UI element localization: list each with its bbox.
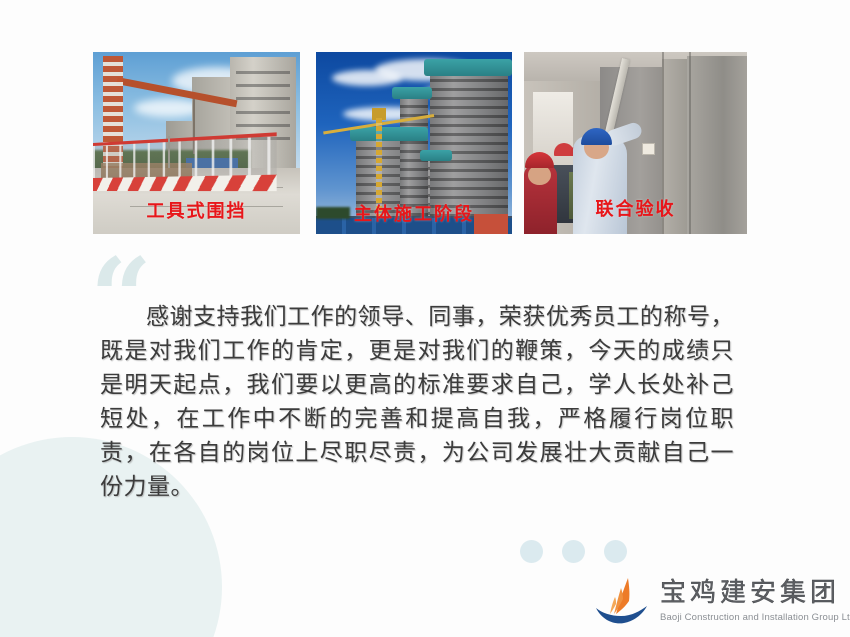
- photo-card-tool-fencing: 工具式围挡: [93, 52, 300, 234]
- logo-name-en: Baoji Construction and Installation Grou…: [660, 612, 850, 623]
- building-floor-line: [236, 84, 290, 87]
- company-logo: 宝鸡建安集团 Baoji Construction and Installati…: [592, 572, 844, 630]
- tower-building: [430, 70, 508, 217]
- logo-name-cn: 宝鸡建安集团: [660, 579, 850, 608]
- logo-text: 宝鸡建安集团 Baoji Construction and Installati…: [660, 579, 850, 622]
- photo-caption: 联合验收: [524, 195, 747, 221]
- photo-caption: 工具式围挡: [93, 197, 300, 223]
- scaffold-shroud: [420, 150, 452, 161]
- photo-card-main-structure: 主体施工阶段: [316, 52, 512, 234]
- building-floor-line: [236, 71, 290, 74]
- decorative-dot: [520, 540, 543, 563]
- photo-card-joint-acceptance: 联合验收: [524, 52, 747, 234]
- decorative-dot: [604, 540, 627, 563]
- light-pole: [168, 136, 170, 169]
- floor-lines: [430, 70, 508, 217]
- photo-strip: 工具式围挡: [93, 52, 747, 234]
- decorative-dots: [520, 540, 627, 563]
- scaffold-shroud: [350, 127, 428, 142]
- acknowledgement-paragraph: 感谢支持我们工作的领导、同事，荣获优秀员工的称号，既是对我们工作的肯定，更是对我…: [100, 300, 734, 504]
- building-floor-line: [236, 111, 290, 114]
- photo-caption: 主体施工阶段: [316, 200, 512, 226]
- scaffold-shroud: [392, 87, 432, 100]
- slide-root: “: [0, 0, 850, 637]
- building-floor-line: [236, 124, 290, 127]
- sail-boat-logo-icon: [592, 575, 654, 627]
- building-floor-line: [236, 97, 290, 100]
- safety-fence-base: [93, 174, 277, 190]
- scaffold-shroud: [424, 59, 512, 75]
- decorative-dot: [562, 540, 585, 563]
- wall-outlet: [642, 143, 655, 155]
